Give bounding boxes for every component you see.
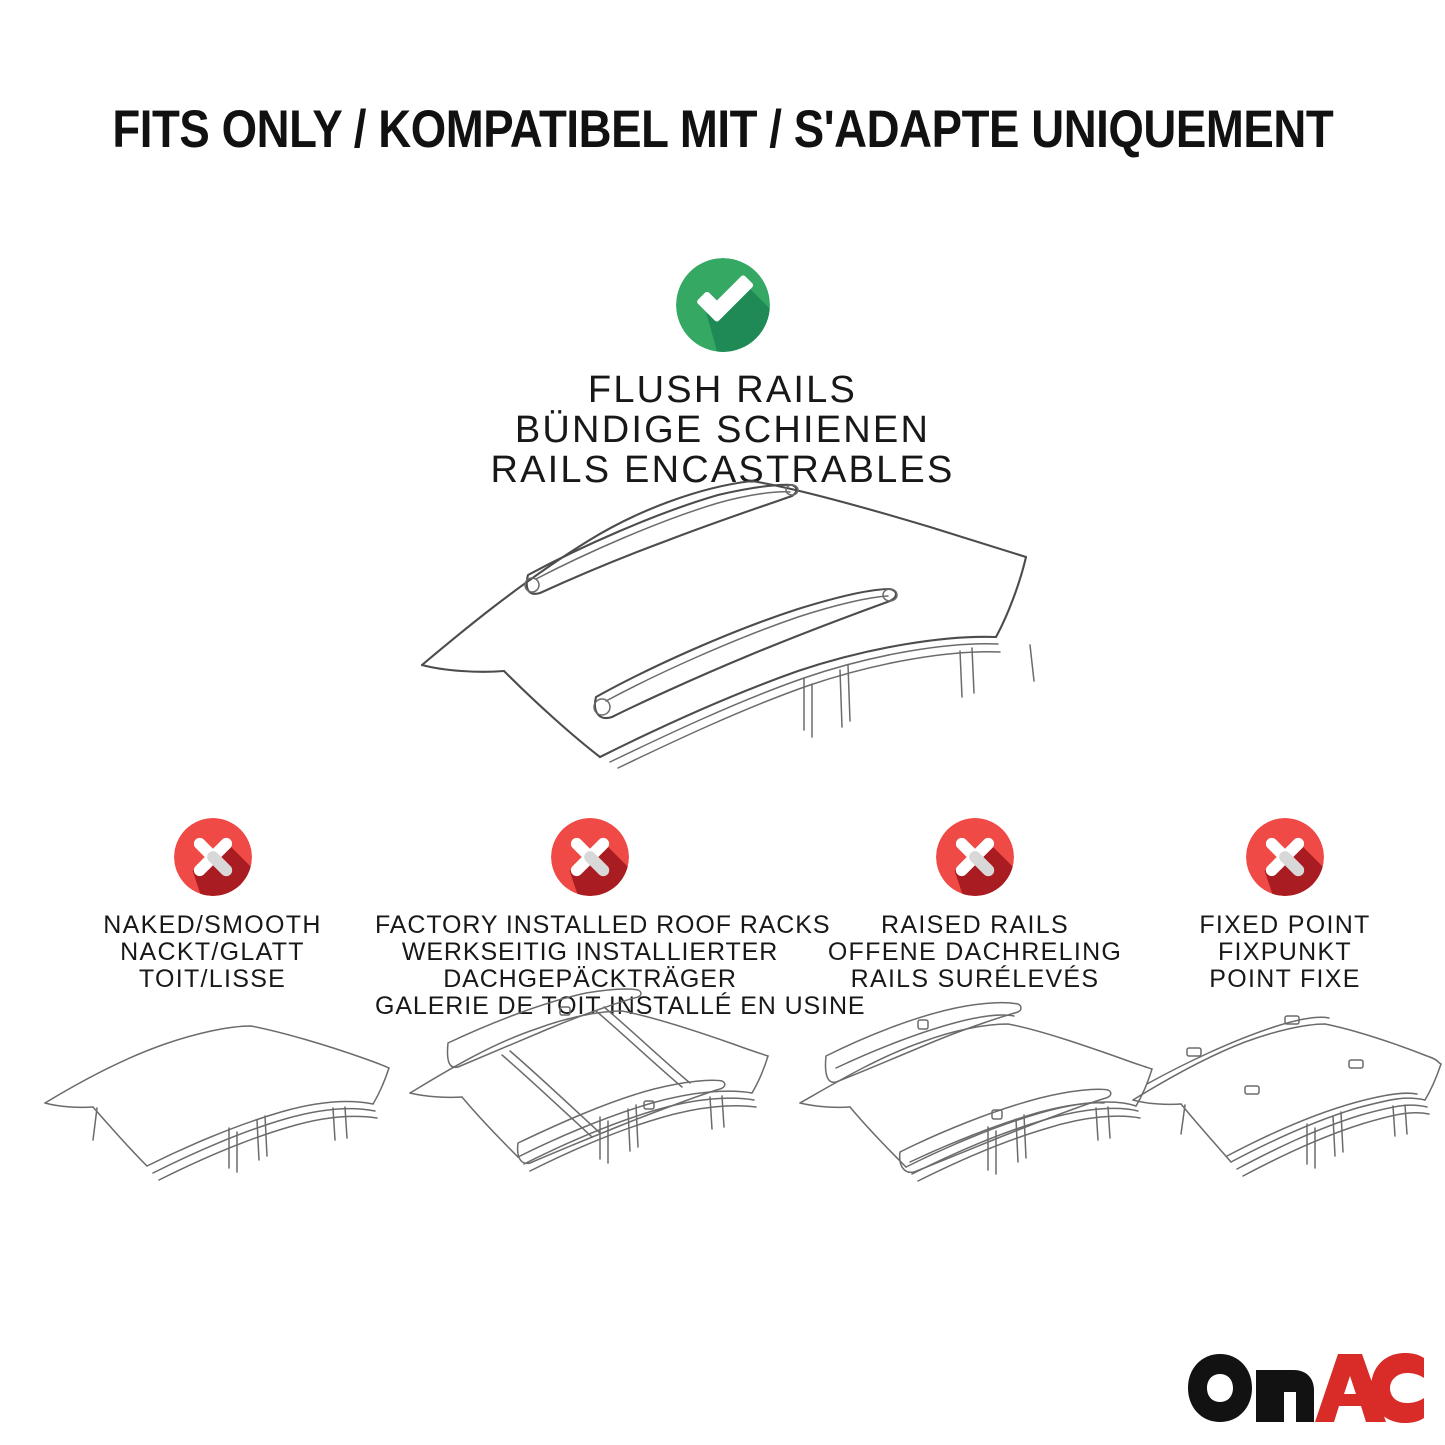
incompatible-item-naked-smooth: NAKED/SMOOTH NACKT/GLATT TOIT/LISSE <box>40 818 385 993</box>
incompatible-labels: RAISED RAILS OFFENE DACHRELING RAILS SUR… <box>805 912 1145 993</box>
car-roof-bare-illustration <box>33 1008 393 1223</box>
cross-circle-icon <box>936 818 1014 896</box>
incompatible-item-factory-roof-racks: FACTORY INSTALLED ROOF RACKS WERKSEITIG … <box>375 818 805 1020</box>
label-de: OFFENE DACHRELING <box>805 939 1145 966</box>
label-en: FIXED POINT <box>1140 912 1430 939</box>
compatible-label-en: FLUSH RAILS <box>0 370 1445 410</box>
car-roof-fixed-points-illustration <box>1125 1008 1445 1228</box>
incompatible-item-raised-rails: RAISED RAILS OFFENE DACHRELING RAILS SUR… <box>805 818 1145 993</box>
page-header: FITS ONLY / KOMPATIBEL MIT / S'ADAPTE UN… <box>0 100 1445 160</box>
label-en: FACTORY INSTALLED ROOF RACKS <box>375 912 805 939</box>
label-fr: TOIT/LISSE <box>40 966 385 993</box>
incompatible-labels: NAKED/SMOOTH NACKT/GLATT TOIT/LISSE <box>40 912 385 993</box>
incompatible-labels: FIXED POINT FIXPUNKT POINT FIXE <box>1140 912 1430 993</box>
incompatible-section: NAKED/SMOOTH NACKT/GLATT TOIT/LISSE <box>0 818 1445 1418</box>
car-roof-with-crossbars-illustration <box>400 983 780 1223</box>
label-de: NACKT/GLATT <box>40 939 385 966</box>
car-roof-with-flush-rails-illustration <box>400 465 1060 775</box>
label-de: WERKSEITIG INSTALLIERTER <box>375 939 805 966</box>
cross-circle-icon <box>551 818 629 896</box>
cross-circle-icon <box>174 818 252 896</box>
compatible-section: FLUSH RAILS BÜNDIGE SCHIENEN RAILS ENCAS… <box>0 258 1445 490</box>
incompatible-item-fixed-point: FIXED POINT FIXPUNKT POINT FIXE <box>1140 818 1430 993</box>
car-roof-with-raised-rails-illustration <box>790 998 1160 1228</box>
omac-logo <box>1186 1352 1426 1424</box>
label-en: NAKED/SMOOTH <box>40 912 385 939</box>
label-en: RAISED RAILS <box>805 912 1145 939</box>
check-circle-icon <box>676 258 770 352</box>
page-title: FITS ONLY / KOMPATIBEL MIT / S'ADAPTE UN… <box>112 100 1333 160</box>
cross-circle-icon <box>1246 818 1324 896</box>
label-de: FIXPUNKT <box>1140 939 1430 966</box>
compatible-label-de: BÜNDIGE SCHIENEN <box>0 410 1445 450</box>
label-fr: RAILS SURÉLEVÉS <box>805 966 1145 993</box>
label-fr: POINT FIXE <box>1140 966 1430 993</box>
